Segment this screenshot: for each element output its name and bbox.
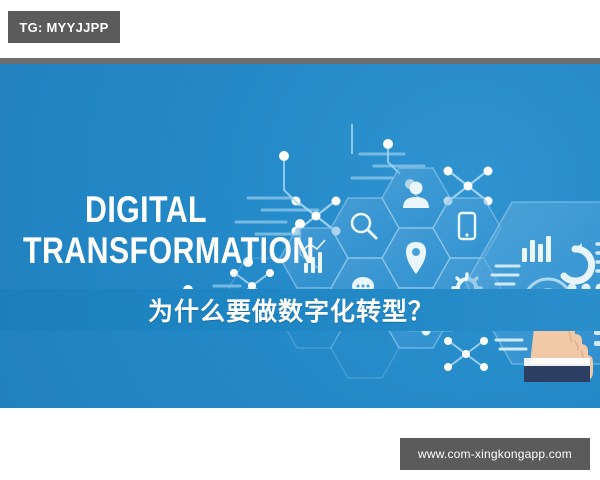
headline-line-1: DIGITAL bbox=[23, 190, 269, 230]
tg-badge-label: TG: MYYJJPP bbox=[19, 20, 108, 35]
promo-banner: DIGITAL TRANSFORMATION 为什么要做数字化转型？ bbox=[0, 58, 600, 408]
tg-badge: TG: MYYJJPP bbox=[8, 11, 120, 43]
banner-top-strip bbox=[0, 58, 600, 64]
subtitle-band: 为什么要做数字化转型？ bbox=[0, 289, 600, 331]
watermark-label: www.com-xingkongapp.com bbox=[418, 447, 572, 461]
screenshot-root: TG: MYYJJPP bbox=[0, 0, 600, 480]
node-cluster-4 bbox=[444, 337, 488, 371]
banner-headline: DIGITAL TRANSFORMATION bbox=[0, 190, 296, 272]
headline-line-2: TRANSFORMATION bbox=[23, 230, 269, 272]
site-watermark: www.com-xingkongapp.com bbox=[400, 438, 590, 470]
subtitle-text: 为什么要做数字化转型？ bbox=[148, 292, 434, 328]
